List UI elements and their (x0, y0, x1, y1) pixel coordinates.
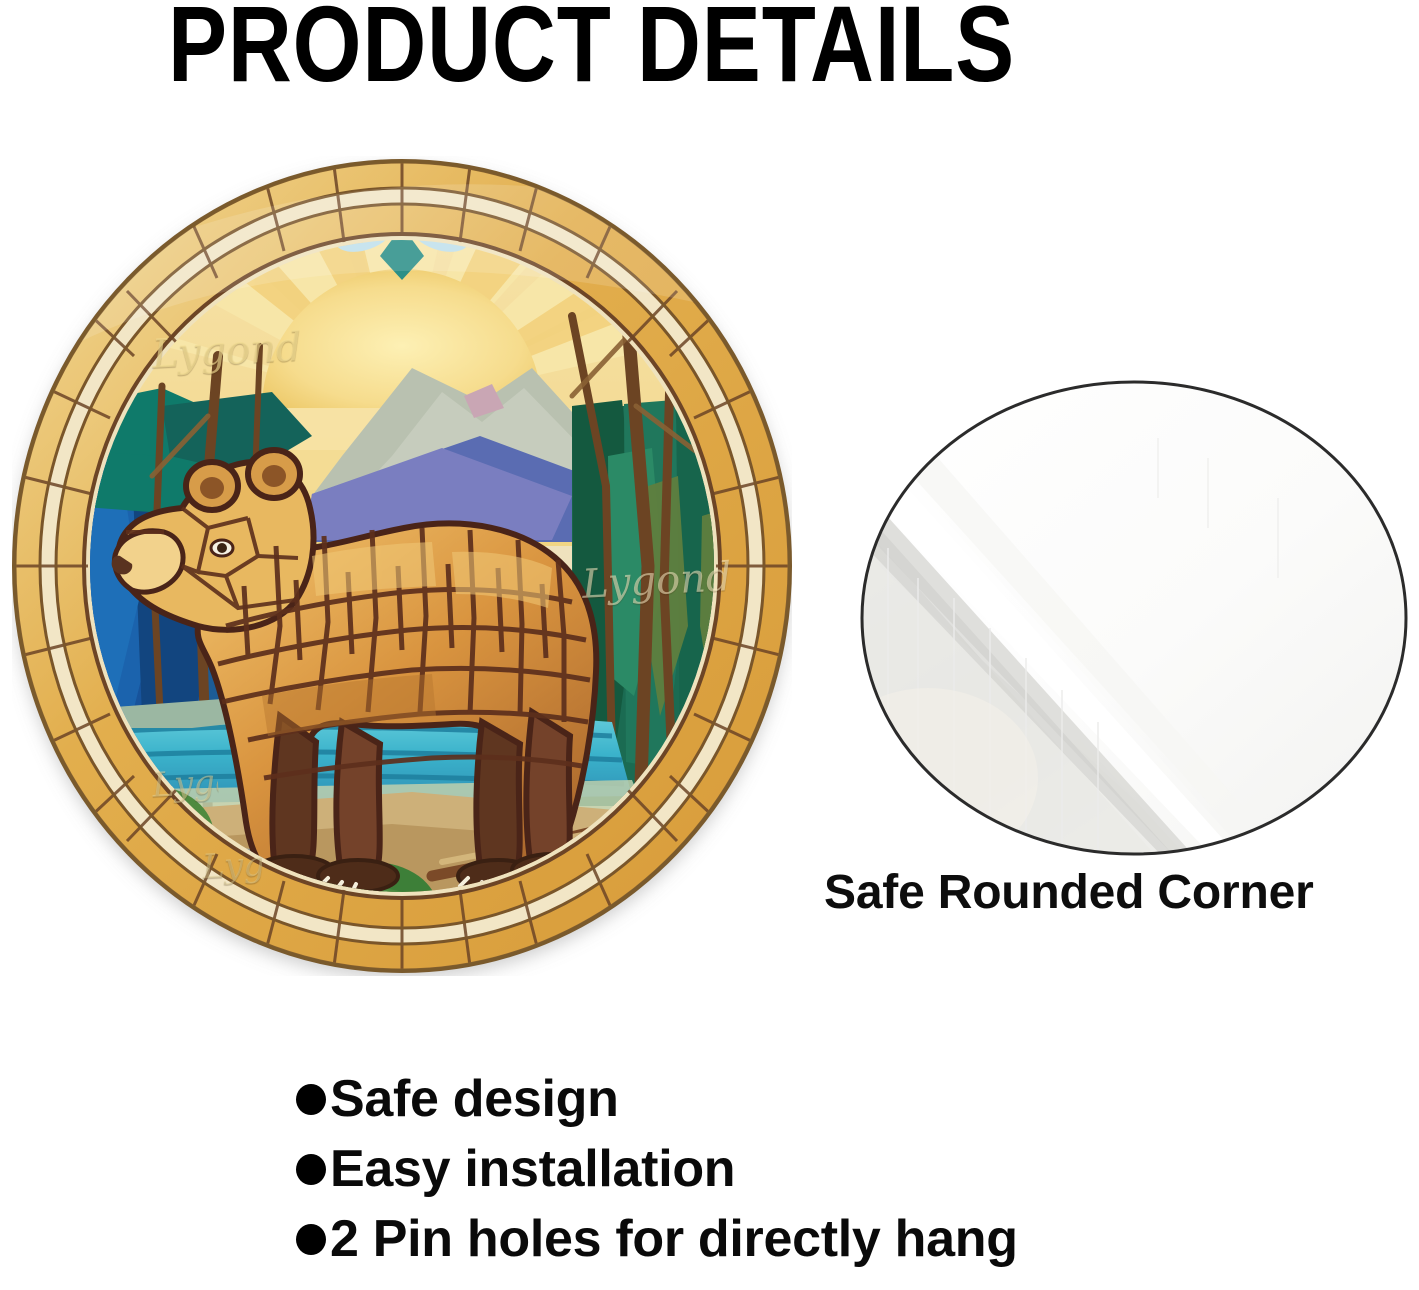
bullet-circle-icon (296, 1224, 326, 1255)
feature-list: Safe design Easy installation 2 Pin hole… (296, 1064, 1296, 1274)
feature-label: Easy installation (330, 1134, 735, 1204)
rounded-corner-caption: Safe Rounded Corner (824, 862, 1419, 924)
glass-disc: Lygond Lygond Lygond Lygond (12, 156, 792, 976)
list-item: 2 Pin holes for directly hang (296, 1204, 1296, 1274)
feature-label: Safe design (330, 1064, 619, 1134)
bullet-circle-icon (296, 1084, 326, 1115)
page-title: PRODUCT DETAILS (168, 0, 1045, 92)
rounded-corner-detail-image (858, 378, 1410, 858)
rounded-corner-macro-photo (858, 378, 1410, 858)
product-image-stained-glass-bear: Lygond Lygond Lygond Lygond (12, 156, 792, 996)
bullet-circle-icon (296, 1154, 326, 1185)
list-item: Safe design (296, 1064, 1296, 1134)
feature-label: 2 Pin holes for directly hang (330, 1204, 1018, 1274)
stained-glass-artwork (12, 156, 792, 976)
list-item: Easy installation (296, 1134, 1296, 1204)
